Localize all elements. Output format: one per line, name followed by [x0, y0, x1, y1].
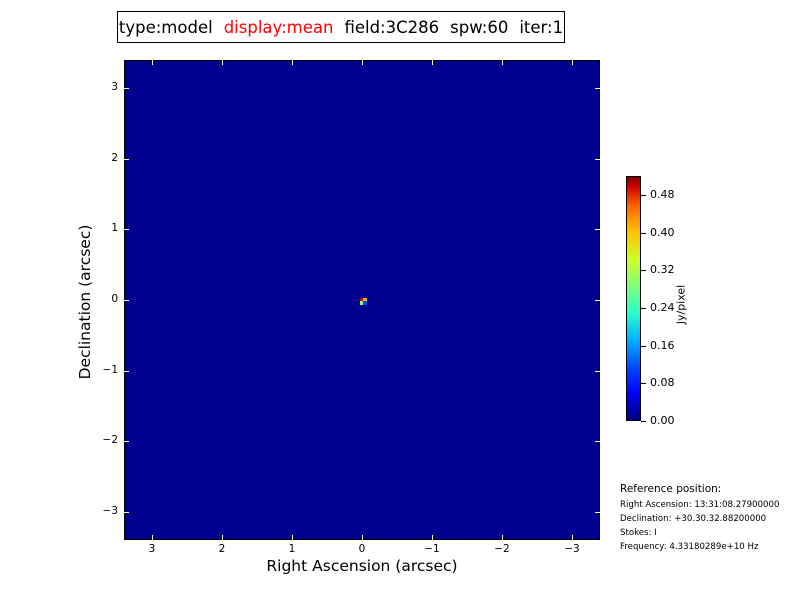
y-tick-mark: [595, 371, 600, 372]
x-tick-mark: [362, 60, 363, 65]
x-tick-mark: [362, 535, 363, 540]
y-tick-mark: [595, 159, 600, 160]
y-tick-mark: [124, 300, 129, 301]
x-tick-mark: [502, 60, 503, 65]
title-token-field: field:3C286: [344, 18, 439, 37]
colorbar-tick-label: 0.08: [650, 376, 675, 389]
x-tick-label: 3: [132, 543, 172, 555]
colorbar-tick-label: 0.24: [650, 301, 675, 314]
y-tick-mark: [124, 441, 129, 442]
y-tick-label: −3: [92, 505, 118, 517]
colorbar-tick-label: 0.40: [650, 226, 675, 239]
x-tick-mark: [292, 60, 293, 65]
title-token-display: display:mean: [224, 18, 334, 37]
image-plot-area[interactable]: [124, 60, 600, 540]
colorbar-tick-mark: [641, 195, 646, 196]
y-tick-mark: [595, 441, 600, 442]
annotation-title-box: type:model display:mean field:3C286 spw:…: [117, 11, 565, 43]
y-tick-mark: [124, 229, 129, 230]
y-tick-mark: [124, 512, 129, 513]
colorbar-tick-label: 0.00: [650, 414, 675, 427]
y-tick-label: −2: [92, 434, 118, 446]
x-tick-mark: [292, 535, 293, 540]
reference-position-ra: Right Ascension: 13:31:08.27900000: [620, 500, 798, 510]
x-tick-mark: [432, 60, 433, 65]
reference-position-block: Reference position: Right Ascension: 13:…: [620, 483, 798, 556]
colorbar-tick-label: 0.48: [650, 188, 675, 201]
colorbar-tick-mark: [641, 270, 646, 271]
y-tick-mark: [595, 512, 600, 513]
x-tick-mark: [222, 60, 223, 65]
y-tick-mark: [124, 159, 129, 160]
title-token-spw: spw:60: [450, 18, 508, 37]
colorbar-tick-mark: [641, 383, 646, 384]
colorbar-tick-mark: [641, 346, 646, 347]
x-tick-mark: [152, 60, 153, 65]
y-tick-label: 0: [92, 293, 118, 305]
x-tick-label: −1: [412, 543, 452, 555]
x-tick-mark: [222, 535, 223, 540]
y-tick-label: 2: [92, 152, 118, 164]
x-tick-label: −3: [552, 543, 592, 555]
y-tick-mark: [124, 88, 129, 89]
reference-position-frequency: Frequency: 4.33180289e+10 Hz: [620, 542, 798, 552]
colorbar-tick-label: 0.16: [650, 339, 675, 352]
x-tick-label: 1: [272, 543, 312, 555]
x-tick-mark: [502, 535, 503, 540]
colorbar-tick-mark: [641, 421, 646, 422]
y-tick-label: −1: [92, 364, 118, 376]
reference-position-stokes: Stokes: I: [620, 528, 798, 538]
x-tick-mark: [572, 60, 573, 65]
x-tick-mark: [572, 535, 573, 540]
title-token-type: type:model: [119, 18, 213, 37]
y-tick-mark: [595, 300, 600, 301]
reference-position-title: Reference position:: [620, 483, 798, 495]
y-tick-mark: [595, 88, 600, 89]
point-source-pixel: [363, 301, 366, 304]
colorbar-tick-mark: [641, 308, 646, 309]
colorbar-unit-label: Jy/pixel: [675, 265, 688, 345]
colorbar-tick-label: 0.32: [650, 263, 675, 276]
x-axis-label: Right Ascension (arcsec): [124, 557, 600, 575]
y-tick-label: 1: [92, 222, 118, 234]
y-tick-mark: [124, 371, 129, 372]
y-tick-mark: [595, 229, 600, 230]
reference-position-dec: Declination: +30.30.32.88200000: [620, 514, 798, 524]
x-tick-label: 0: [342, 543, 382, 555]
x-tick-label: −2: [482, 543, 522, 555]
x-tick-mark: [432, 535, 433, 540]
colorbar-gradient: [626, 176, 641, 421]
y-tick-label: 3: [92, 81, 118, 93]
x-tick-mark: [152, 535, 153, 540]
y-axis-label: Declination (arcsec): [76, 62, 94, 542]
title-token-iter: iter:1: [519, 18, 563, 37]
colorbar-tick-mark: [641, 233, 646, 234]
x-tick-label: 2: [202, 543, 242, 555]
